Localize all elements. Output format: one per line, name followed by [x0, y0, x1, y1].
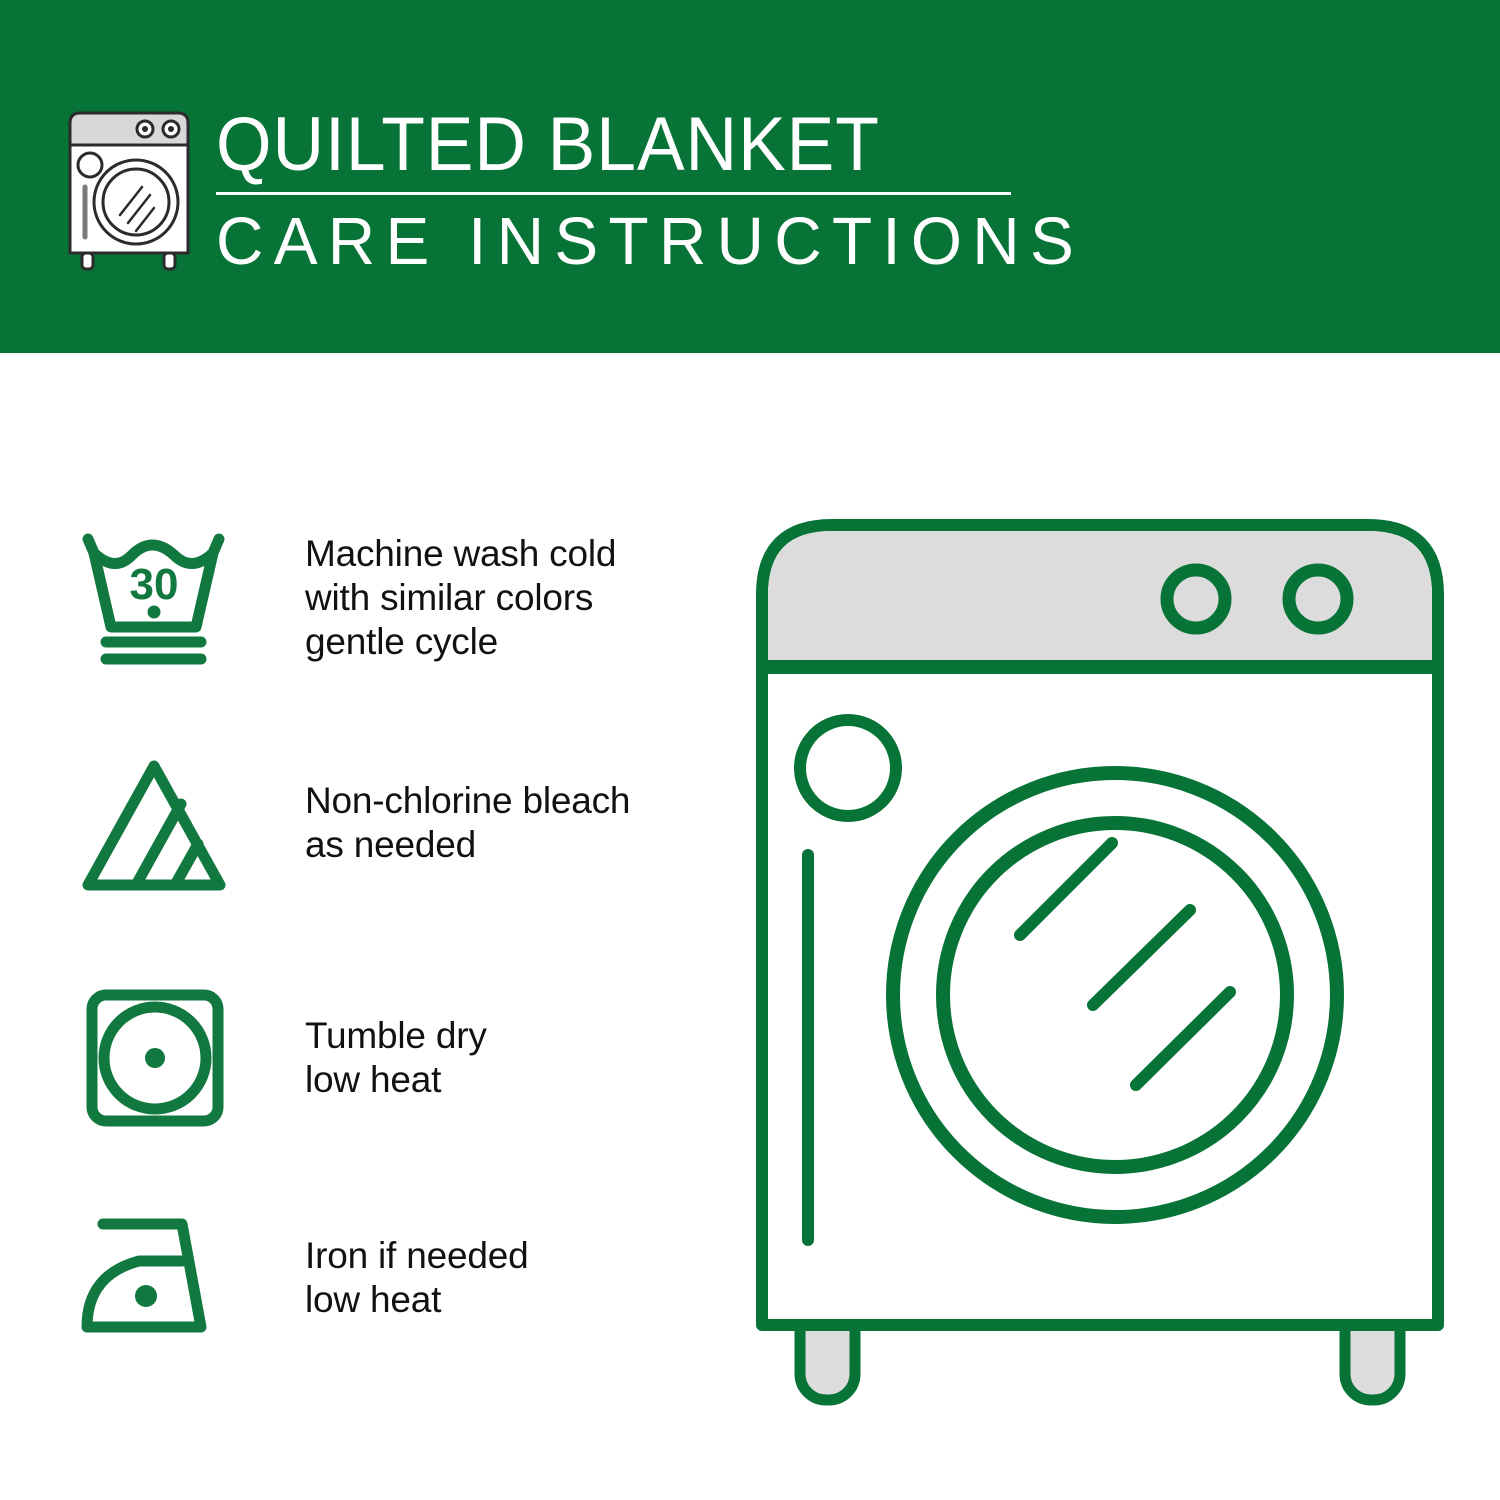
- front-load-washing-machine-illustration: [740, 495, 1460, 1415]
- header-banner: QUILTED BLANKET CARE INSTRUCTIONS: [0, 0, 1500, 353]
- wash-temperature-value: 30: [130, 560, 179, 609]
- care-item-label: Machine wash cold with similar colors ge…: [305, 532, 616, 664]
- title-divider: [216, 192, 1011, 195]
- non-chlorine-bleach-triangle-icon: [70, 743, 245, 903]
- care-item-label: Tumble dry low heat: [305, 1014, 487, 1102]
- care-item-label: Non-chlorine bleach as needed: [305, 779, 630, 867]
- header-title-block: QUILTED BLANKET CARE INSTRUCTIONS: [216, 106, 1016, 277]
- page-subtitle: CARE INSTRUCTIONS: [216, 207, 1000, 277]
- care-instructions-page: QUILTED BLANKET CARE INSTRUCTIONS 3: [0, 0, 1500, 1500]
- care-item-machine-wash: 30 Machine wash cold with similar colors…: [70, 518, 710, 678]
- care-symbol-list: 30 Machine wash cold with similar colors…: [0, 353, 720, 1500]
- page-title: QUILTED BLANKET: [216, 106, 968, 184]
- care-item-bleach: Non-chlorine bleach as needed: [70, 743, 710, 903]
- wash-tub-30-gentle-icon: 30: [70, 518, 245, 678]
- washing-machine-icon: [60, 105, 205, 275]
- care-item-label: Iron if needed low heat: [305, 1234, 528, 1322]
- care-item-iron: Iron if needed low heat: [70, 1198, 710, 1358]
- tumble-dry-low-icon: [70, 978, 245, 1138]
- iron-low-heat-icon: [70, 1198, 245, 1358]
- care-item-tumble-dry: Tumble dry low heat: [70, 978, 710, 1138]
